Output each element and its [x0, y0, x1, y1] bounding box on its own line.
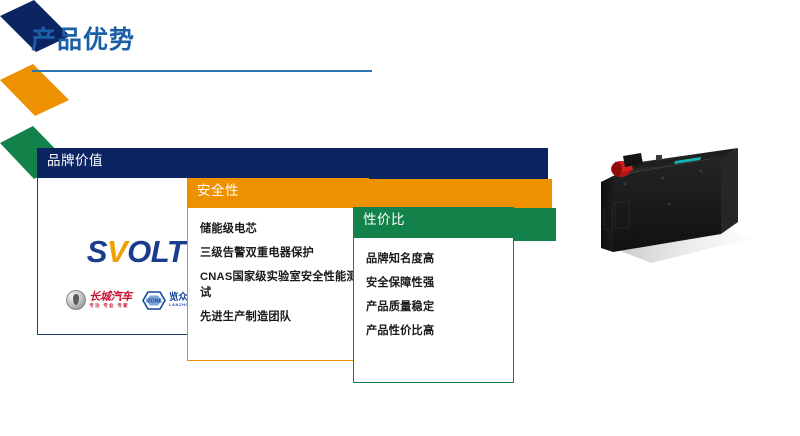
svolt-logo-v: V	[107, 234, 127, 269]
title-divider	[32, 70, 372, 72]
list-item: 安全保障性强	[366, 276, 503, 292]
card-brand-value-header: 品牌价值	[37, 148, 235, 178]
partner-name-great-wall: 长城汽车	[89, 292, 132, 303]
partner-tagline-great-wall: 专注 专业 专家	[89, 304, 132, 309]
list-item: 储能级电芯	[200, 222, 358, 238]
card-safety: 安全性 储能级电芯 三级告警双重电器保护 CNAS国家级实验室安全性能测试 先进…	[187, 178, 369, 361]
list-item: 先进生产制造团队	[200, 310, 358, 326]
card-cost-performance: 性价比 品牌知名度高 安全保障性强 产品质量稳定 产品性价比高	[353, 207, 514, 383]
izone-hexagon-icon: IZONE	[142, 291, 166, 310]
card-cost-performance-header: 性价比	[353, 207, 514, 238]
slide-canvas: 产品优势	[0, 0, 800, 436]
page-title: 产品优势	[31, 27, 135, 55]
list-item: 品牌知名度高	[366, 252, 503, 268]
card-safety-body: 储能级电芯 三级告警双重电器保护 CNAS国家级实验室安全性能测试 先进生产制造…	[187, 208, 369, 361]
battery-pack-photo	[573, 130, 773, 290]
list-item: 三级告警双重电器保护	[200, 246, 358, 262]
safety-feature-list: 储能级电芯 三级告警双重电器保护 CNAS国家级实验室安全性能测试 先进生产制造…	[200, 222, 358, 326]
list-item: CNAS国家级实验室安全性能测试	[200, 270, 358, 302]
svolt-logo-s: S	[87, 234, 107, 269]
great-wall-emblem-icon	[66, 290, 86, 310]
card-cost-performance-body: 品牌知名度高 安全保障性强 产品质量稳定 产品性价比高	[353, 238, 514, 383]
orange-arrow-head-icon	[0, 64, 69, 126]
cost-performance-list: 品牌知名度高 安全保障性强 产品质量稳定 产品性价比高	[366, 252, 503, 340]
list-item: 产品性价比高	[366, 324, 503, 340]
partner-logo-great-wall: 长城汽车 专注 专业 专家	[66, 290, 132, 310]
svolt-logo-olt: OLT	[127, 234, 185, 269]
card-safety-header: 安全性	[187, 178, 369, 208]
list-item: 产品质量稳定	[366, 300, 503, 316]
svg-text:IZONE: IZONE	[146, 298, 162, 304]
